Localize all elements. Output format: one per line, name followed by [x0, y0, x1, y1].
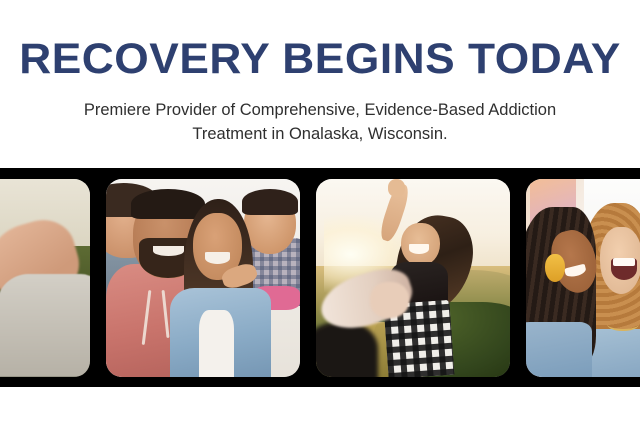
- photo-outdoor-field: [0, 179, 90, 377]
- carousel-slide-sunset-woman[interactable]: [316, 179, 510, 377]
- page-subtitle: Premiere Provider of Comprehensive, Evid…: [0, 98, 640, 146]
- carousel-slide-partial-left[interactable]: [0, 179, 90, 377]
- carousel-slide-family-selfie[interactable]: [106, 179, 300, 377]
- hero-page: RECOVERY BEGINS TODAY Premiere Provider …: [0, 0, 640, 425]
- carousel-slide-friends-laughing[interactable]: [526, 179, 640, 377]
- hero-text-block: RECOVERY BEGINS TODAY Premiere Provider …: [0, 0, 640, 146]
- photo-carousel[interactable]: [0, 168, 640, 387]
- page-title: RECOVERY BEGINS TODAY: [0, 36, 640, 82]
- photo-friends-laughing: [526, 179, 640, 377]
- photo-sunset-woman: [316, 179, 510, 377]
- carousel-track[interactable]: [0, 179, 640, 377]
- photo-family-selfie: [106, 179, 300, 377]
